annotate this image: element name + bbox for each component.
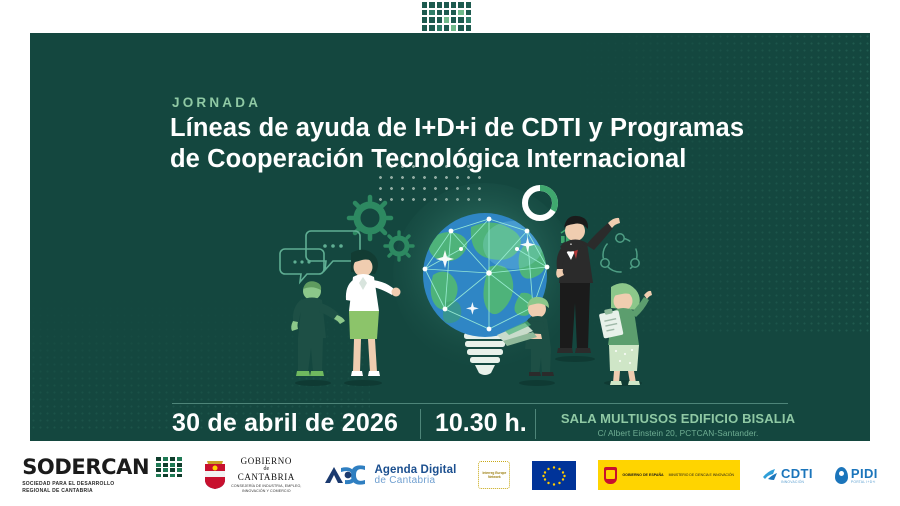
gobierno-line-1: GOBIERNO — [241, 456, 292, 466]
ministerio-line-2: MINISTERIO DE CIENCIA E INNOVACIÓN — [669, 473, 734, 477]
gobierno-line-5: INNOVACIÓN Y COMERCIO — [242, 489, 291, 493]
gobierno-line-4: CONSEJERÍA DE INDUSTRIA, EMPLEO, — [231, 484, 301, 488]
logo-sodercan: SODERCAN SOCIEDAD PARA EL DESARROLLO REG… — [22, 455, 182, 494]
pidi-name: PIDI — [851, 467, 878, 480]
poster-panel: JORNADA Líneas de ayuda de I+D+i de CDTI… — [30, 33, 870, 441]
location-pin-icon — [835, 467, 848, 484]
logo-ministerio: GOBIERNO DE ESPAÑA MINISTERIO DE CIENCIA… — [598, 460, 740, 490]
divider-date-time — [420, 409, 421, 439]
logo-eu-seal: Interreg Europe Network — [478, 461, 510, 489]
adc-mark-icon — [323, 463, 369, 487]
event-venue: SALA MULTIUSOS EDIFICIO BISALIA C/ Alber… — [553, 411, 803, 438]
venue-address: C/ Albert Einstein 20, PCTCAN-Santander. — [553, 428, 803, 438]
logo-gobierno-cantabria: GOBIERNO de CANTABRIA CONSEJERÍA DE INDU… — [204, 456, 301, 493]
event-time: 10.30 h. — [435, 409, 527, 438]
spain-coat-of-arms-icon — [604, 467, 617, 484]
ministerio-bar: GOBIERNO DE ESPAÑA MINISTERIO DE CIENCIA… — [598, 460, 740, 490]
sodercan-subtitle-line-1: SOCIEDAD PARA EL DESARROLLO — [22, 481, 114, 487]
title-line-1: Líneas de ayuda de I+D+i de CDTI y Progr… — [170, 114, 744, 142]
cdti-mark-icon — [762, 468, 778, 482]
cdti-name: CDTI — [781, 467, 813, 480]
sodercan-wordmark: SODERCAN — [22, 455, 149, 479]
cdti-tagline: INNOVACIÓN — [781, 480, 813, 484]
logo-cdti: CDTI INNOVACIÓN — [762, 467, 813, 484]
illustration-globe-lightbulb — [275, 183, 695, 393]
person-left-pointing — [291, 281, 345, 386]
ministerio-line-1: GOBIERNO DE ESPAÑA — [622, 473, 663, 477]
eu-seal-icon: Interreg Europe Network — [478, 461, 510, 489]
logo-agenda-digital: Agenda Digital de Cantabria — [323, 463, 456, 487]
agenda-digital-line-1: Agenda Digital — [374, 464, 456, 476]
gobierno-line-3: CANTABRIA — [238, 472, 295, 482]
agenda-digital-line-2: de Cantabria — [374, 476, 456, 487]
divider-time-venue — [535, 409, 536, 439]
eu-flag-icon — [532, 461, 576, 490]
divider-top — [172, 403, 788, 404]
cantabria-coat-of-arms-icon — [204, 460, 226, 490]
sodercan-subtitle: SOCIEDAD PARA EL DESARROLLO REGIONAL DE … — [22, 481, 114, 494]
person-woman-white-shirt — [344, 250, 401, 386]
person-woman-clipboard — [598, 283, 652, 386]
logo-eu-flag — [532, 461, 576, 490]
speech-bubble-icon — [280, 231, 360, 282]
venue-name: SALA MULTIUSOS EDIFICIO BISALIA — [553, 411, 803, 426]
kicker-label: JORNADA — [172, 95, 261, 110]
title-line-2: de Cooperación Tecnológica Internacional — [170, 144, 830, 175]
page-title: Líneas de ayuda de I+D+i de CDTI y Progr… — [170, 113, 830, 175]
logo-strip: SODERCAN SOCIEDAD PARA EL DESARROLLO REG… — [0, 444, 900, 506]
logo-pidi: PIDI PORTAL I+D+i — [835, 467, 878, 484]
sodercan-grid-icon — [156, 457, 182, 477]
sodercan-subtitle-line-2: REGIONAL DE CANTABRIA — [22, 488, 93, 494]
cycle-arrows-icon — [601, 234, 639, 272]
pidi-tagline: PORTAL I+D+i — [851, 480, 878, 484]
event-date: 30 de abril de 2026 — [172, 409, 398, 438]
gobierno-consejeria: CONSEJERÍA DE INDUSTRIA, EMPLEO, INNOVAC… — [231, 484, 301, 493]
